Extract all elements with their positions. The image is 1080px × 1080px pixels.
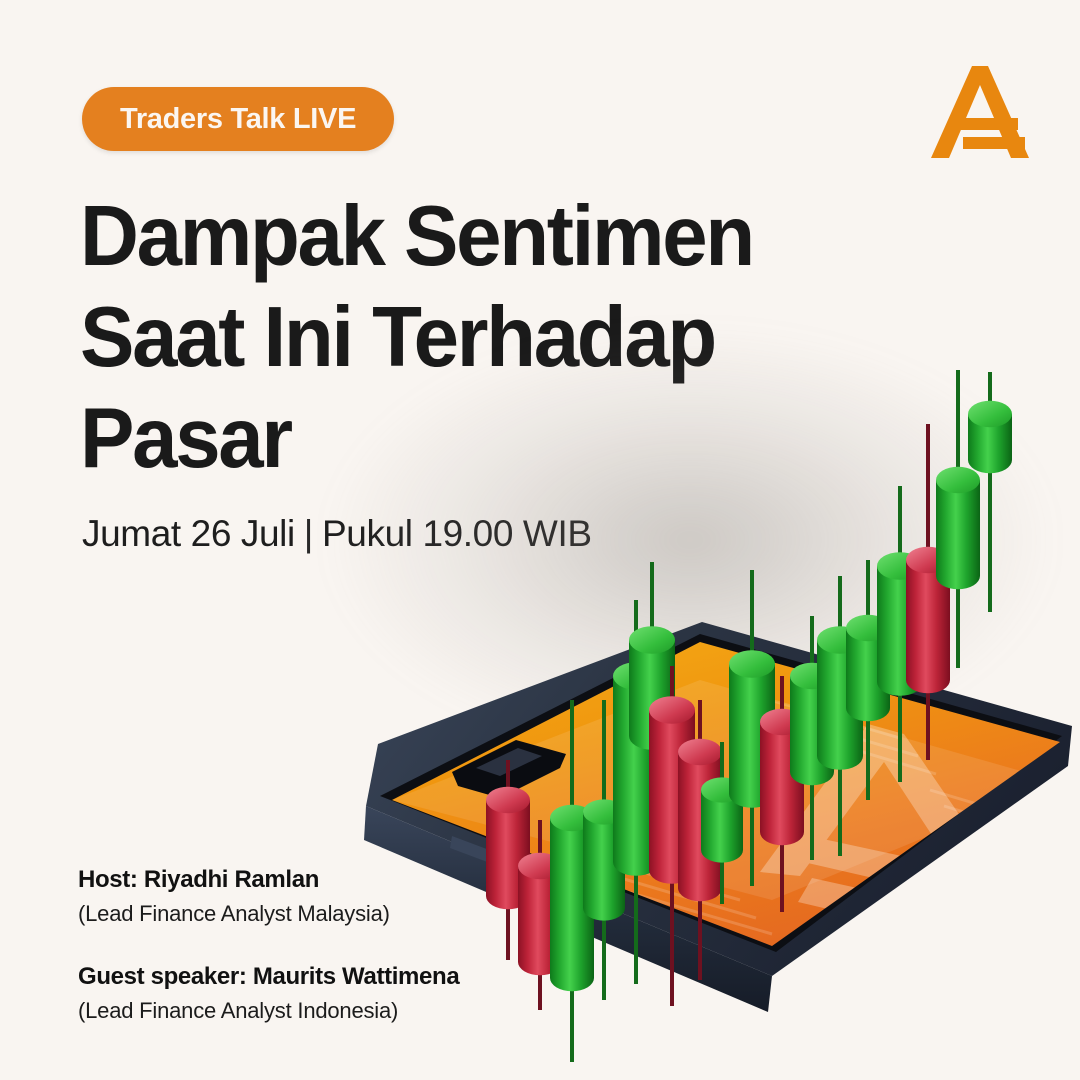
- brand-a-logo-icon: [925, 58, 1035, 163]
- candle-top-cap: [486, 787, 530, 813]
- candle-top-cap: [629, 626, 675, 654]
- credit-guest-name: Guest speaker: Maurits Wattimena: [78, 963, 459, 991]
- badge-label: Traders Talk LIVE: [120, 103, 356, 136]
- traders-talk-live-badge[interactable]: Traders Talk LIVE: [82, 87, 394, 151]
- credit-host-name: Host: Riyadhi Ramlan: [78, 866, 459, 894]
- credit-guest-role: (Lead Finance Analyst Indonesia): [78, 998, 459, 1024]
- candle-top-cap: [968, 401, 1012, 427]
- credits-block: Host: Riyadhi Ramlan (Lead Finance Analy…: [78, 866, 459, 1060]
- candle-body: [936, 480, 980, 589]
- candle-top-cap: [649, 696, 695, 724]
- credit-host-role: (Lead Finance Analyst Malaysia): [78, 901, 459, 927]
- candle-top-cap: [936, 467, 980, 493]
- candle-top-cap: [678, 739, 722, 765]
- credit-host: Host: Riyadhi Ramlan (Lead Finance Analy…: [78, 866, 459, 927]
- candle-top-cap: [729, 650, 775, 678]
- promo-poster: Traders Talk LIVE Dampak Sentimen Saat I…: [0, 0, 1080, 1080]
- credit-guest: Guest speaker: Maurits Wattimena (Lead F…: [78, 963, 459, 1024]
- headline-line-1: Dampak Sentimen: [80, 186, 810, 287]
